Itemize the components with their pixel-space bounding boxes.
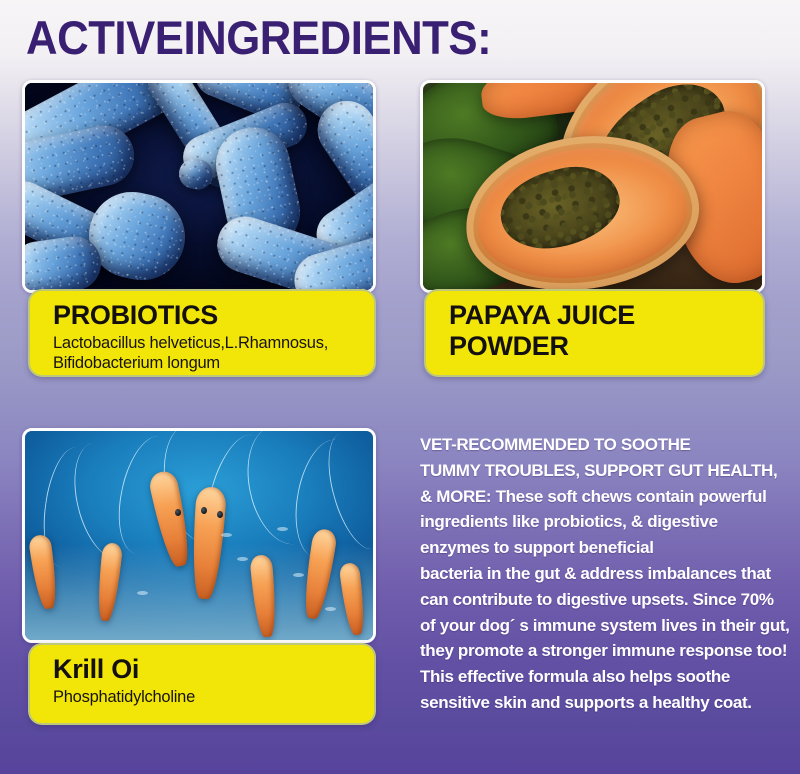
krill-photo — [22, 428, 376, 643]
papaya-photo — [420, 80, 765, 293]
ingredient-subtitle: Lactobacillus helveticus,L.Rhamnosus, Bi… — [53, 333, 374, 373]
krill-eye — [217, 511, 223, 518]
krill-scene — [25, 431, 373, 640]
ingredient-name: PAPAYA JUICE POWDER — [449, 300, 763, 362]
ingredient-label-krill: Krill Oi Phosphatidylcholine — [28, 643, 376, 725]
small-fish — [221, 533, 232, 537]
small-fish — [277, 527, 288, 531]
ingredient-name: Krill Oi — [53, 654, 374, 685]
page-title: ACTIVEINGREDIENTS: — [26, 9, 714, 67]
ingredient-label-probiotics: PROBIOTICS Lactobacillus helveticus,L.Rh… — [28, 289, 376, 377]
bacteria-scene — [25, 83, 373, 290]
small-fish — [137, 591, 148, 595]
papaya-scene — [423, 83, 762, 290]
krill-eye — [201, 507, 207, 514]
krill-eye — [175, 509, 181, 516]
ingredient-subtitle: Phosphatidylcholine — [53, 687, 374, 707]
ingredient-label-papaya: PAPAYA JUICE POWDER — [424, 289, 765, 377]
product-description: VET-RECOMMENDED TO SOOTHE TUMMY TROUBLES… — [420, 432, 792, 716]
ingredient-name: PROBIOTICS — [53, 300, 374, 331]
small-fish — [237, 557, 248, 561]
small-fish — [325, 607, 336, 611]
probiotics-photo — [22, 80, 376, 293]
small-fish — [293, 573, 304, 577]
